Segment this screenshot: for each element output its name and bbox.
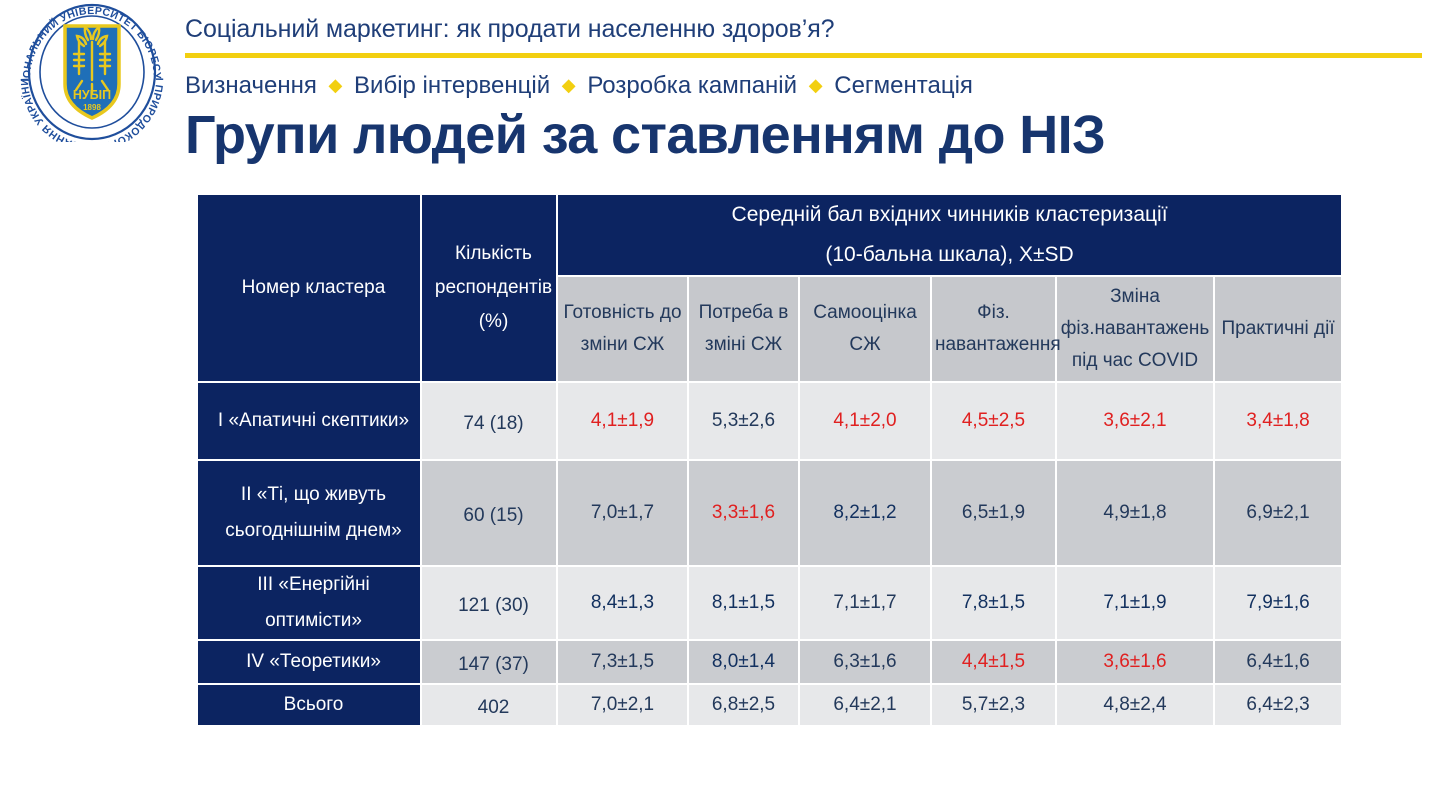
cell-factor-value: 6,5±1,9: [931, 460, 1056, 566]
cell-factor-value: 4,4±1,5: [931, 640, 1056, 684]
cell-factor-value: 3,3±1,6: [688, 460, 799, 566]
cell-factor-value: 3,6±2,1: [1056, 382, 1214, 460]
header-cell-factor-0: Готовність до зміни СЖ: [557, 276, 688, 382]
breadcrumb-item-3[interactable]: Сегментація: [834, 72, 973, 99]
table-row: III «Енергійні оптимісти»121 (30)8,4±1,3…: [197, 566, 1342, 640]
breadcrumb-separator-icon: ◆: [324, 75, 348, 95]
breadcrumb-item-2[interactable]: Розробка кампаній: [587, 72, 797, 99]
row-label-cluster: Всього: [197, 684, 421, 726]
header-cell-cluster-number: Номер кластера: [197, 194, 421, 382]
breadcrumb: Визначення ◆ Вибір інтервенцій ◆ Розробк…: [185, 71, 1422, 102]
table-row: I «Апатичні скептики»74 (18)4,1±1,95,3±2…: [197, 382, 1342, 460]
cell-factor-value: 5,3±2,6: [688, 382, 799, 460]
header-cell-respondent-count: Кількість респондентів (%): [421, 194, 557, 382]
breadcrumb-item-0[interactable]: Визначення: [185, 72, 317, 99]
table-header-row-group: Номер кластера Кількість респондентів (%…: [197, 194, 1342, 276]
table-header: Номер кластера Кількість респондентів (%…: [197, 194, 1342, 382]
nubip-emblem-icon: · НАЦІОНАЛЬНИЙ УНІВЕРСИТЕТ БІОРЕСУРСІВ ·…: [8, 2, 176, 142]
cell-factor-value: 4,1±1,9: [557, 382, 688, 460]
header-cell-factor-4: Зміна фіз.навантажень під час COVID: [1056, 276, 1214, 382]
cell-factor-value: 3,4±1,8: [1214, 382, 1342, 460]
cell-factor-value: 6,9±2,1: [1214, 460, 1342, 566]
cell-factor-value: 6,8±2,5: [688, 684, 799, 726]
cell-factor-value: 7,9±1,6: [1214, 566, 1342, 640]
cell-factor-value: 4,1±2,0: [799, 382, 931, 460]
shield-year-text: 1898: [83, 103, 101, 112]
group-title-line2: (10-бальна шкала), X±SD: [558, 235, 1341, 275]
cell-respondent-count: 121 (30): [421, 566, 557, 640]
cell-factor-value: 7,3±1,5: [557, 640, 688, 684]
header-cell-group-title: Середній бал вхідних чинників кластериза…: [557, 194, 1342, 276]
cell-factor-value: 6,4±2,3: [1214, 684, 1342, 726]
cell-factor-value: 7,1±1,7: [799, 566, 931, 640]
header-cell-factor-5: Практичні дії: [1214, 276, 1342, 382]
cell-respondent-count: 402: [421, 684, 557, 726]
table-row: II «Ті, що живуть сьогоднішнім днем»60 (…: [197, 460, 1342, 566]
header-cell-factor-3: Фіз. навантаження: [931, 276, 1056, 382]
header-cell-factor-1: Потреба в зміні СЖ: [688, 276, 799, 382]
cell-factor-value: 4,5±2,5: [931, 382, 1056, 460]
cell-factor-value: 8,2±1,2: [799, 460, 931, 566]
row-label-cluster: IV «Теоретики»: [197, 640, 421, 684]
cell-factor-value: 4,9±1,8: [1056, 460, 1214, 566]
page-title: Групи людей за ставленням до НІЗ: [185, 104, 1422, 166]
cell-factor-value: 8,1±1,5: [688, 566, 799, 640]
cell-factor-value: 7,1±1,9: [1056, 566, 1214, 640]
cell-factor-value: 4,8±2,4: [1056, 684, 1214, 726]
kicker-text: Соціальний маркетинг: як продати населен…: [185, 14, 1422, 44]
cell-factor-value: 7,8±1,5: [931, 566, 1056, 640]
table-row: Всього4027,0±2,16,8±2,56,4±2,15,7±2,34,8…: [197, 684, 1342, 726]
cluster-characteristics-table: Номер кластера Кількість респондентів (%…: [196, 193, 1343, 727]
table-body: I «Апатичні скептики»74 (18)4,1±1,95,3±2…: [197, 382, 1342, 726]
table-row: IV «Теоретики»147 (37)7,3±1,58,0±1,46,3±…: [197, 640, 1342, 684]
nubip-university-logo: · НАЦІОНАЛЬНИЙ УНІВЕРСИТЕТ БІОРЕСУРСІВ ·…: [8, 2, 176, 142]
cell-factor-value: 6,4±1,6: [1214, 640, 1342, 684]
row-label-cluster: I «Апатичні скептики»: [197, 382, 421, 460]
cell-factor-value: 8,0±1,4: [688, 640, 799, 684]
group-title-line1: Середній бал вхідних чинників кластериза…: [558, 195, 1341, 235]
cell-respondent-count: 60 (15): [421, 460, 557, 566]
row-label-cluster: III «Енергійні оптимісти»: [197, 566, 421, 640]
cell-factor-value: 3,6±1,6: [1056, 640, 1214, 684]
slide-header: Соціальний маркетинг: як продати населен…: [185, 14, 1422, 166]
cell-factor-value: 8,4±1,3: [557, 566, 688, 640]
cell-respondent-count: 147 (37): [421, 640, 557, 684]
cell-respondent-count: 74 (18): [421, 382, 557, 460]
header-cell-factor-2: Самооцінка СЖ: [799, 276, 931, 382]
cell-factor-value: 7,0±1,7: [557, 460, 688, 566]
breadcrumb-item-1[interactable]: Вибір інтервенцій: [354, 72, 550, 99]
breadcrumb-separator-icon: ◆: [557, 75, 581, 95]
cell-factor-value: 6,3±1,6: [799, 640, 931, 684]
breadcrumb-separator-icon: ◆: [804, 75, 828, 95]
gold-divider: [185, 53, 1422, 58]
cell-factor-value: 5,7±2,3: [931, 684, 1056, 726]
cell-factor-value: 6,4±2,1: [799, 684, 931, 726]
row-label-cluster: II «Ті, що живуть сьогоднішнім днем»: [197, 460, 421, 566]
cell-factor-value: 7,0±2,1: [557, 684, 688, 726]
shield-abbr-text: НУБІП: [73, 88, 111, 102]
